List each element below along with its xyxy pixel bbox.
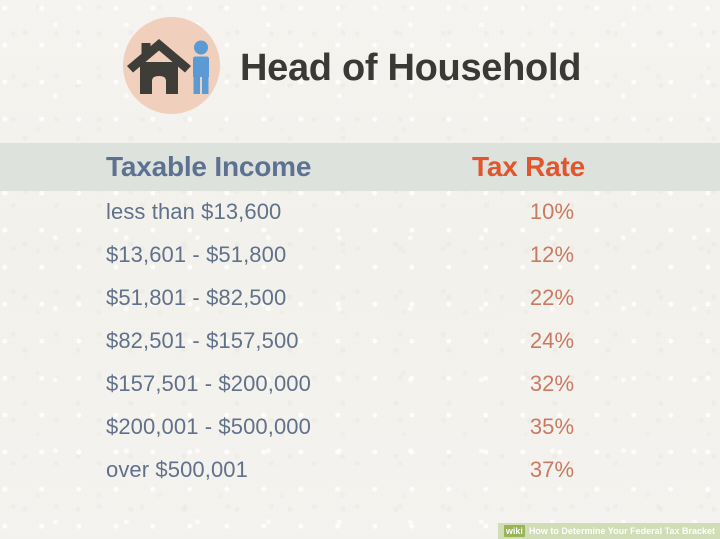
table-row: $13,601 - $51,800 12% [0, 234, 720, 277]
bracket-rate: 24% [492, 328, 612, 354]
header: Head of Household [0, 0, 720, 143]
bracket-range: $82,501 - $157,500 [106, 328, 299, 354]
bracket-range: $51,801 - $82,500 [106, 285, 286, 311]
table-row: $200,001 - $500,000 35% [0, 406, 720, 449]
table-row: less than $13,600 10% [0, 191, 720, 234]
bracket-range: $200,001 - $500,000 [106, 414, 311, 440]
column-header-tax-rate: Tax Rate [472, 151, 632, 183]
table-row: $82,501 - $157,500 24% [0, 320, 720, 363]
bracket-rate: 32% [492, 371, 612, 397]
bracket-rate: 12% [492, 242, 612, 268]
bracket-range: $157,501 - $200,000 [106, 371, 311, 397]
table-header-row: Taxable Income Tax Rate [0, 143, 720, 191]
tax-bracket-table: less than $13,600 10% $13,601 - $51,800 … [0, 191, 720, 492]
bracket-rate: 10% [492, 199, 612, 225]
bracket-rate: 37% [492, 457, 612, 483]
bracket-range: less than $13,600 [106, 199, 281, 225]
table-row: over $500,001 37% [0, 449, 720, 492]
table-row: $157,501 - $200,000 32% [0, 363, 720, 406]
wikihow-watermark: wiki How to Determine Your Federal Tax B… [498, 523, 720, 539]
bracket-range: $13,601 - $51,800 [106, 242, 286, 268]
column-header-taxable-income: Taxable Income [106, 151, 311, 183]
infographic-page: Head of Household Taxable Income Tax Rat… [0, 0, 720, 539]
bracket-rate: 35% [492, 414, 612, 440]
watermark-text: How to Determine Your Federal Tax Bracke… [529, 525, 715, 537]
bracket-rate: 22% [492, 285, 612, 311]
table-row: $51,801 - $82,500 22% [0, 277, 720, 320]
house-with-person-icon [123, 17, 220, 114]
bracket-range: over $500,001 [106, 457, 248, 483]
page-title: Head of Household [240, 44, 581, 92]
wikihow-logo: wiki [504, 525, 525, 537]
